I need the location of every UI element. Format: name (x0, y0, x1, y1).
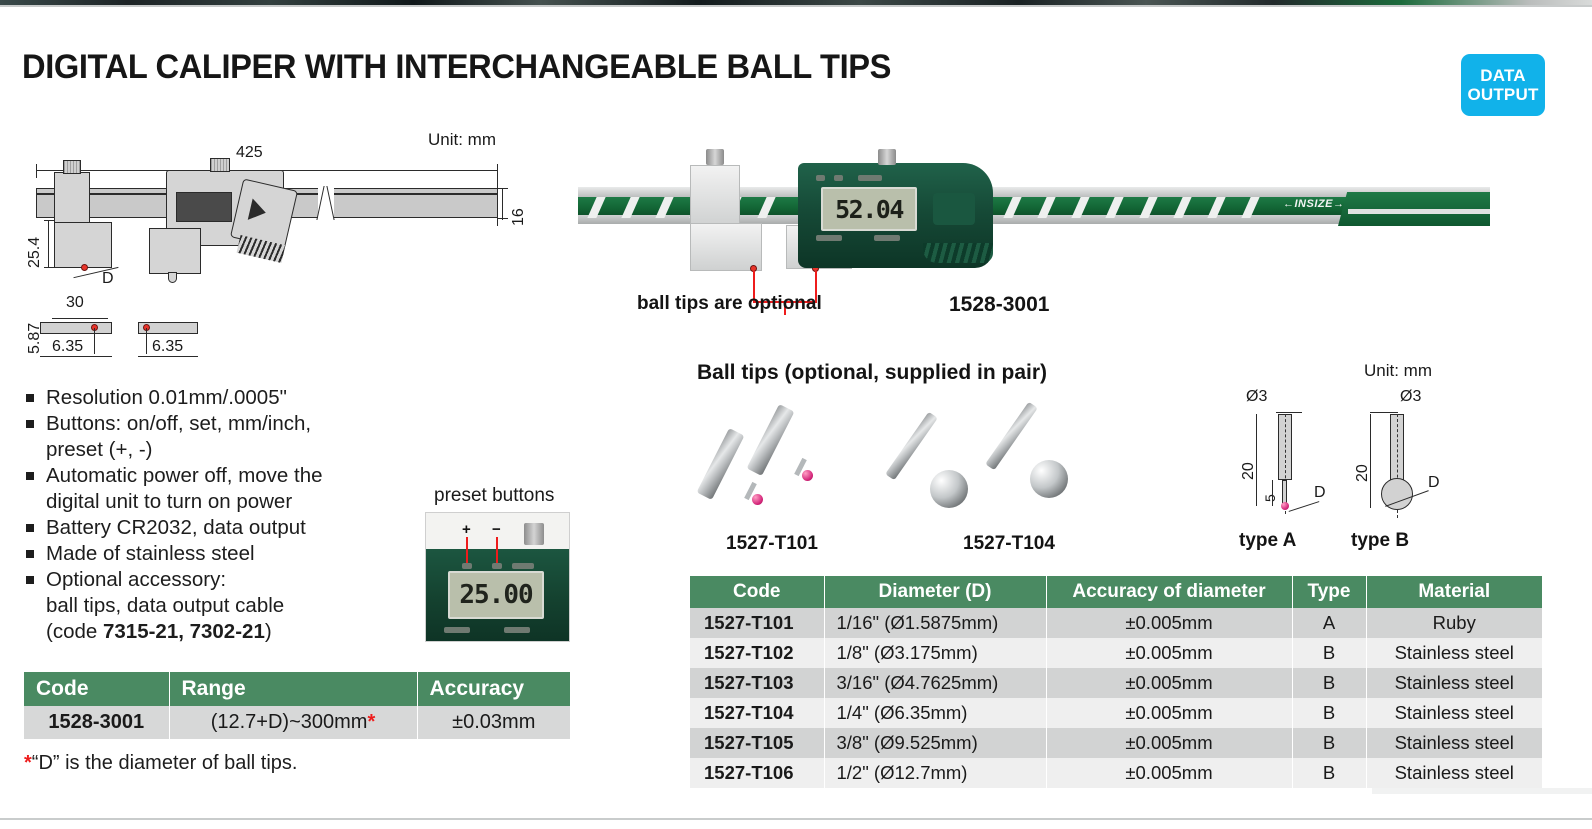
caliper-head-knob (878, 149, 896, 165)
caliper-grip-teeth (923, 243, 993, 263)
col-header-accuracy: Accuracy (417, 672, 570, 706)
cell-diameter: 1/2" (Ø12.7mm) (824, 758, 1046, 788)
cell-type: B (1292, 728, 1366, 758)
dim-25-4: 25.4 (26, 237, 44, 268)
dim-dia3-a: Ø3 (1246, 388, 1267, 406)
caliper-thumb-roller[interactable] (933, 193, 975, 225)
dim-5-a: 5 (1262, 494, 1278, 502)
balltip-stem (985, 402, 1038, 471)
feature-text: Automatic power off, move the (46, 464, 323, 487)
cell-accuracy: ±0.005mm (1046, 638, 1292, 668)
cell-type: B (1292, 668, 1366, 698)
table-row: 1528-3001 (12.7+D)~300mm* ±0.03mm (24, 706, 570, 739)
preset-inch-button[interactable] (512, 563, 534, 569)
cell-accuracy: ±0.005mm (1046, 698, 1292, 728)
cell-code: 1527-T102 (690, 638, 824, 668)
jaw-profile-view-1 (40, 322, 112, 334)
cell-accuracy: ±0.005mm (1046, 608, 1292, 638)
feature-text: Optional accessory: (46, 568, 226, 591)
cell-code: 1527-T105 (690, 728, 824, 758)
caliper-slider-knob (706, 149, 724, 165)
cell-code: 1527-T103 (690, 668, 824, 698)
dim-D-left: D (102, 270, 114, 288)
dim-line-635b (138, 356, 198, 357)
fixed-jaw-foot (54, 222, 112, 268)
caliper-beam-tail-stripe (1348, 209, 1490, 214)
feature-item-material: Made of stainless steel (24, 541, 424, 567)
footnote-text: “D” is the diameter of ball tips. (32, 752, 298, 774)
feature-text: Buttons: on/off, set, mm/inch, (46, 412, 311, 435)
table-row: 1527-T101 1/16" (Ø1.5875mm) ±0.005mm A R… (690, 608, 1542, 638)
cell-accuracy: ±0.005mm (1046, 668, 1292, 698)
dim-425: 425 (236, 144, 263, 162)
dim-dia3-b: Ø3 (1400, 388, 1421, 406)
balltips-optional-annotation: ball tips are optional (637, 293, 822, 315)
cell-accuracy: ±0.03mm (417, 706, 570, 739)
dim-line-5-a (1272, 480, 1273, 506)
balltip-steel-ball (930, 470, 968, 508)
moving-jaw-foot (149, 228, 201, 274)
range-asterisk: * (367, 711, 375, 733)
preset-minus-button[interactable] (492, 563, 502, 569)
fixed-jaw-knob (63, 160, 81, 174)
col-header-diameter: Diameter (D) (824, 576, 1046, 608)
dim-line-20-a (1256, 414, 1257, 506)
dim-tick-254b (44, 267, 54, 268)
dim-tick-16b (498, 218, 508, 219)
table-row: 1527-T102 1/8" (Ø3.175mm) ±0.005mm B Sta… (690, 638, 1542, 668)
preset-minus-label: − (492, 521, 501, 538)
dim-line-20-b (1370, 414, 1371, 508)
feature-subtext: preset (+, -) (46, 437, 424, 463)
data-output-badge: DATA OUTPUT (1461, 54, 1545, 116)
balltip-ruby-ball (802, 470, 813, 481)
preset-plus-leader (466, 537, 468, 565)
unit-label-left: Unit: mm (428, 130, 496, 150)
preset-buttons-caption: preset buttons (434, 485, 554, 507)
caliper-model-label: 1528-3001 (949, 293, 1049, 317)
type-b-diagram: Ø3 20 D (1350, 388, 1480, 518)
dim-line-30 (52, 318, 108, 319)
dim-line-dia3-b (1370, 412, 1398, 413)
feature-text: Battery CR2032, data output (46, 516, 306, 539)
cell-diameter: 1/16" (Ø1.5875mm) (824, 608, 1046, 638)
cell-code: 1527-T101 (690, 608, 824, 638)
balltip-photo-T104 (900, 394, 1120, 510)
cell-diameter: 3/8" (Ø9.525mm) (824, 728, 1046, 758)
fixed-jaw-balltip-dot (81, 264, 88, 271)
preset-off-button[interactable] (444, 627, 470, 633)
jaw-profile-2-leader (146, 328, 147, 354)
feature-item-buttons: Buttons: on/off, set, mm/inch, preset (+… (24, 411, 424, 463)
accessory-code-values: 7315-21, 7302-21 (103, 620, 265, 643)
feature-item-accessory: Optional accessory: ball tips, data outp… (24, 567, 424, 645)
caliper-lcd-display: 52.04 (821, 187, 917, 231)
feature-text: Resolution 0.01mm/.0005" (46, 386, 287, 409)
table-row: 1527-T104 1/4" (Ø6.35mm) ±0.005mm B Stai… (690, 698, 1542, 728)
caliper-slider-upper (690, 165, 740, 227)
feature-list: Resolution 0.01mm/.0005" Buttons: on/off… (24, 385, 424, 645)
type-a-diagram: Ø3 20 5 D (1232, 388, 1352, 518)
code-suffix: ) (265, 620, 272, 643)
dim-tick-254a (44, 220, 54, 221)
dim-D-a: D (1314, 484, 1326, 502)
cell-range: (12.7+D)~300mm* (169, 706, 417, 739)
cell-accuracy: ±0.005mm (1046, 728, 1292, 758)
cell-material: Stainless steel (1366, 728, 1542, 758)
balltips-table: Code Diameter (D) Accuracy of diameter T… (690, 576, 1542, 788)
feature-subtext: ball tips, data output cable (46, 593, 424, 619)
insize-brand-logo: ←INSIZE→ (1283, 198, 1344, 210)
dim-6-35-a: 6.35 (52, 338, 83, 356)
cell-material: Stainless steel (1366, 698, 1542, 728)
caliper-minus-button[interactable] (834, 175, 843, 181)
cell-type: B (1292, 758, 1366, 788)
dim-16: 16 (510, 208, 528, 226)
col-header-code: Code (24, 672, 169, 706)
col-header-type: Type (1292, 576, 1366, 608)
balltip-steel-ball (1030, 460, 1068, 498)
cell-diameter: 3/16" (Ø4.7625mm) (824, 668, 1046, 698)
badge-line-2: OUTPUT (1467, 85, 1538, 104)
caliper-onoff-button[interactable] (816, 235, 842, 241)
table-row: 1527-T105 3/8" (Ø9.525mm) ±0.005mm B Sta… (690, 728, 1542, 758)
range-value: (12.7+D)~300mm (211, 711, 368, 733)
col-header-code: Code (690, 576, 824, 608)
dim-D-b: D (1428, 474, 1440, 492)
page-title: DIGITAL CALIPER WITH INTERCHANGEABLE BAL… (22, 48, 891, 87)
preset-minus-leader (496, 537, 498, 565)
dim-line-dia3-a (1276, 412, 1302, 413)
datasheet-page: DIGITAL CALIPER WITH INTERCHANGEABLE BAL… (0, 0, 1592, 829)
caliper-lcd-value: 52.04 (835, 195, 903, 224)
cell-accuracy: ±0.005mm (1046, 758, 1292, 788)
cell-type: B (1292, 698, 1366, 728)
table-row: 1527-T106 1/2" (Ø12.7mm) ±0.005mm B Stai… (690, 758, 1542, 788)
balltip-stem (747, 404, 795, 476)
preset-lcd-value: 25.00 (459, 580, 532, 610)
cell-material: Stainless steel (1366, 638, 1542, 668)
balltip-stem (697, 428, 745, 500)
preset-set-button[interactable] (504, 627, 530, 633)
table-header-row: Code Range Accuracy (24, 672, 570, 706)
col-header-material: Material (1366, 576, 1542, 608)
feature-accessory-codes: (code 7315-21, 7302-21) (46, 619, 424, 645)
preset-buttons-photo: + − 25.00 (425, 512, 570, 642)
feature-item-battery: Battery CR2032, data output (24, 515, 424, 541)
preset-plus-label: + (462, 521, 471, 538)
cell-material: Stainless steel (1366, 758, 1542, 788)
cell-code: 1528-3001 (24, 706, 169, 739)
feature-subtext: digital unit to turn on power (46, 489, 424, 515)
digital-head-knob (210, 158, 230, 172)
col-header-accuracy: Accuracy of diameter (1046, 576, 1292, 608)
dim-tick-left (36, 164, 37, 178)
caliper-plus-button[interactable] (816, 175, 825, 181)
feature-item-autopower: Automatic power off, move the digital un… (24, 463, 424, 515)
balltips-section-title: Ball tips (optional, supplied in pair) (697, 361, 1047, 385)
cell-material: Stainless steel (1366, 668, 1542, 698)
unit-label-right: Unit: mm (1364, 361, 1432, 381)
type-a-label: type A (1239, 530, 1296, 552)
digital-head-lcd (176, 192, 232, 222)
preset-plus-button[interactable] (462, 563, 472, 569)
specification-table: Code Range Accuracy 1528-3001 (12.7+D)~3… (24, 672, 570, 739)
caliper-product-photo: ←INSIZE→ 52.04 (578, 135, 1490, 295)
dim-leader-D-a (1289, 501, 1320, 512)
moving-jaw-balltip (168, 272, 177, 283)
cell-code: 1527-T104 (690, 698, 824, 728)
bottom-divider-line (0, 818, 1592, 820)
feature-text: Made of stainless steel (46, 542, 255, 565)
type-a-ball (1281, 502, 1289, 510)
caliper-set-button[interactable] (874, 235, 900, 241)
cell-type: A (1292, 608, 1366, 638)
jaw-profile-1-leader (94, 328, 95, 354)
cell-diameter: 1/4" (Ø6.35mm) (824, 698, 1046, 728)
bottom-right-strip (1372, 788, 1592, 794)
balltip-label-T101: 1527-T101 (726, 533, 818, 555)
caliper-inch-mm-button[interactable] (858, 175, 882, 181)
badge-line-1: DATA (1480, 66, 1526, 85)
caliper-slider-jaw (690, 223, 762, 271)
footnote-asterisk: * (24, 752, 32, 774)
cell-diameter: 1/8" (Ø3.175mm) (824, 638, 1046, 668)
cell-material: Ruby (1366, 608, 1542, 638)
balltip-stem (885, 412, 938, 481)
preset-photo-knob (524, 523, 544, 545)
cell-type: B (1292, 638, 1366, 668)
dim-tick-16a (498, 188, 508, 189)
feature-item-resolution: Resolution 0.01mm/.0005" (24, 385, 424, 411)
balltip-photo-T101 (706, 398, 886, 508)
dim-6-35-b: 6.35 (152, 338, 183, 356)
dim-line-25-4 (48, 220, 49, 268)
balltip-ruby-ball (752, 494, 763, 505)
balltip-label-T104: 1527-T104 (963, 533, 1055, 555)
dim-line-635a (40, 356, 112, 357)
type-b-label: type B (1351, 530, 1409, 552)
preset-photo-lcd: 25.00 (448, 571, 544, 619)
code-prefix: (code (46, 620, 103, 643)
cell-code: 1527-T106 (690, 758, 824, 788)
table-header-row: Code Diameter (D) Accuracy of diameter T… (690, 576, 1542, 608)
top-divider-line (0, 5, 1592, 7)
caliper-engineering-drawing: 425 16 D 25.4 (18, 148, 518, 348)
footnote: *“D” is the diameter of ball tips. (24, 752, 297, 775)
table-row: 1527-T103 3/16" (Ø4.7625mm) ±0.005mm B S… (690, 668, 1542, 698)
dim-30: 30 (66, 294, 84, 312)
dim-line-16 (502, 188, 503, 220)
col-header-range: Range (169, 672, 417, 706)
